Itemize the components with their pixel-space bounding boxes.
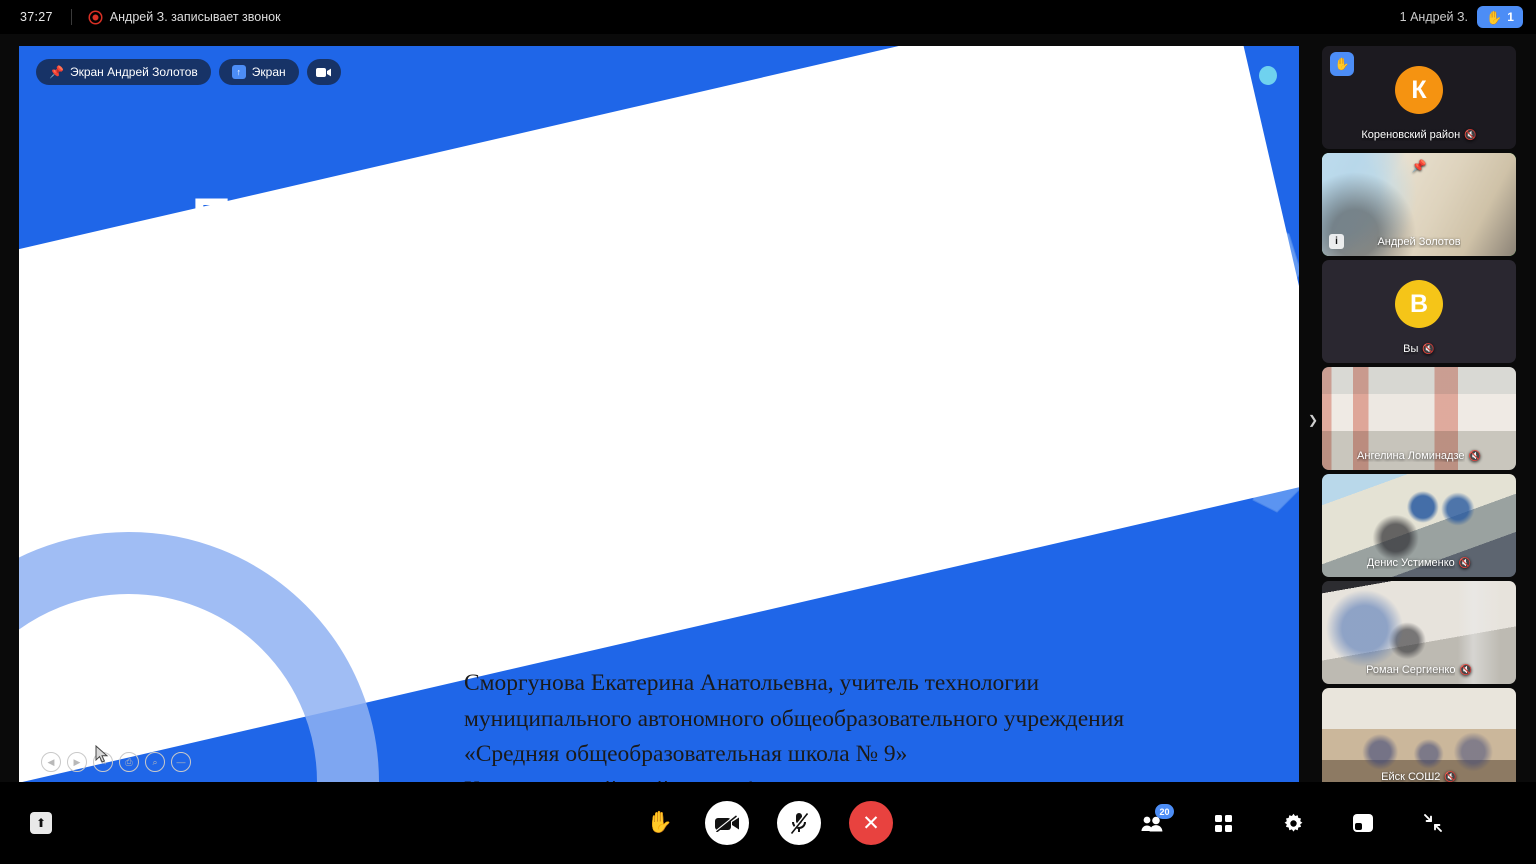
screen-label: Экран xyxy=(252,65,286,79)
participant-name: Денис Устименко xyxy=(1367,557,1455,569)
mic-off-icon: 🔇 xyxy=(1459,558,1471,569)
presentation-controls[interactable]: ◀ ▶ ✎ ⎙ ⌕ — xyxy=(41,752,191,772)
prev-slide-button[interactable]: ◀ xyxy=(41,752,61,772)
video-detail xyxy=(1322,688,1516,782)
participant-name: Роман Сергиенко xyxy=(1366,664,1455,676)
share-screen-icon: ⬆ xyxy=(30,812,52,834)
subtitle-line: муниципального автономного общеобразоват… xyxy=(464,702,1299,738)
print-button[interactable]: ⎙ xyxy=(119,752,139,772)
collapse-arrows-icon xyxy=(1423,813,1443,833)
grid-view-button[interactable] xyxy=(1210,810,1236,836)
end-call-icon: ✕ xyxy=(862,811,880,836)
sidebar-collapse-handle[interactable]: ❯ xyxy=(1306,405,1320,435)
camera-icon xyxy=(316,67,331,78)
subtitle-line: Краснодарский край, город Армавир xyxy=(464,773,1299,782)
raise-hand-icon: ✋ xyxy=(647,811,673,835)
raise-hand-button[interactable]: ✋ xyxy=(643,806,677,840)
participant-name-row: Ангелина Ломинадзе 🔇 xyxy=(1322,450,1516,462)
participant-name: Ейск СОШ2 xyxy=(1381,771,1440,782)
dot xyxy=(1259,66,1277,85)
participants-sidebar[interactable]: ✋ К Кореновский район 🔇 📌 i Андрей Золот… xyxy=(1322,46,1516,782)
toolbar-right: 20 xyxy=(1140,810,1446,836)
collapse-button[interactable] xyxy=(1420,810,1446,836)
participant-name-row: Ейск СОШ2 🔇 xyxy=(1322,771,1516,782)
participant-name-row: Андрей Золотов xyxy=(1322,236,1516,248)
layout-button[interactable] xyxy=(1350,810,1376,836)
screen-badge[interactable]: ↑ Экран xyxy=(219,59,299,85)
participant-tile[interactable]: 📌 i Андрей Золотов xyxy=(1322,153,1516,256)
zoom-button[interactable]: ⌕ xyxy=(145,752,165,772)
participant-tile[interactable]: В Вы 🔇 xyxy=(1322,260,1516,363)
top-bar: 37:27 Андрей З. записывает звонок 1 Андр… xyxy=(0,0,1536,34)
next-slide-button[interactable]: ▶ xyxy=(67,752,87,772)
recording-indicator: Андрей З. записывает звонок xyxy=(90,10,281,24)
avatar: К xyxy=(1395,66,1443,114)
participant-tile[interactable]: Ангелина Ломинадзе 🔇 xyxy=(1322,367,1516,470)
call-controls: ✋ ✕ xyxy=(643,801,893,845)
pin-icon: 📌 xyxy=(49,65,64,79)
record-dot-icon xyxy=(90,12,101,23)
raised-hands-count: 1 xyxy=(1507,10,1514,24)
raised-hands-badge[interactable]: ✋ 1 xyxy=(1477,6,1523,28)
participants-count-badge: 20 xyxy=(1155,804,1174,819)
divider xyxy=(71,9,72,25)
participant-name: Вы xyxy=(1403,343,1418,355)
camera-off-icon xyxy=(715,815,739,832)
chevron-right-icon: ❯ xyxy=(1308,413,1318,427)
share-screen-button[interactable]: ⬆ xyxy=(30,812,52,834)
top-bar-right: 1 Андрей З. ✋ 1 xyxy=(1400,6,1523,28)
mic-off-icon xyxy=(790,812,808,834)
shared-screen-stage[interactable]: Практика трудового воспитания и социальн… xyxy=(19,46,1299,782)
participant-name-row: Роман Сергиенко 🔇 xyxy=(1322,664,1516,676)
avatar: В xyxy=(1395,280,1443,328)
mouse-cursor-icon xyxy=(95,745,109,768)
subtitle-line: «Средняя общеобразовательная школа № 9» xyxy=(464,737,1299,773)
raised-hand-icon: ✋ xyxy=(1330,52,1354,76)
layout-icon xyxy=(1352,813,1374,833)
raised-hand-name: 1 Андрей З. xyxy=(1400,10,1468,24)
bottom-toolbar: ⬆ ✋ xyxy=(0,782,1536,864)
pin-icon: 📌 xyxy=(1412,159,1427,173)
participant-tile[interactable]: Роман Сергиенко 🔇 xyxy=(1322,581,1516,684)
camera-chip[interactable] xyxy=(307,59,341,85)
mic-off-icon: 🔇 xyxy=(1469,451,1481,462)
mic-off-icon: 🔇 xyxy=(1444,772,1456,783)
minimize-button[interactable]: — xyxy=(171,752,191,772)
recording-label: Андрей З. записывает звонок xyxy=(110,10,281,24)
participant-name: Ангелина Ломинадзе xyxy=(1357,450,1464,462)
subtitle-line: Сморгунова Екатерина Анатольевна, учител… xyxy=(464,666,1299,702)
presentation-slide: Практика трудового воспитания и социальн… xyxy=(19,46,1299,782)
participant-name: Андрей Золотов xyxy=(1377,236,1460,248)
participant-tile[interactable]: Денис Устименко 🔇 xyxy=(1322,474,1516,577)
participant-tile[interactable]: ✋ К Кореновский район 🔇 xyxy=(1322,46,1516,149)
mic-off-icon: 🔇 xyxy=(1464,130,1476,141)
mic-off-icon: 🔇 xyxy=(1422,344,1434,355)
mic-off-icon: 🔇 xyxy=(1459,665,1471,676)
participants-button[interactable]: 20 xyxy=(1140,810,1166,836)
participant-name-row: Вы 🔇 xyxy=(1322,343,1516,355)
mic-toggle-button[interactable] xyxy=(777,801,821,845)
participant-tile[interactable]: Ейск СОШ2 🔇 xyxy=(1322,688,1516,782)
end-call-button[interactable]: ✕ xyxy=(849,801,893,845)
settings-button[interactable] xyxy=(1280,810,1306,836)
share-badges: 📌 Экран Андрей Золотов ↑ Экран xyxy=(36,59,341,85)
participant-name-row: Кореновский район 🔇 xyxy=(1322,129,1516,141)
grid-view-icon xyxy=(1215,815,1232,832)
meeting-timer: 37:27 xyxy=(20,10,53,24)
participant-name: Кореновский район xyxy=(1361,129,1460,141)
gear-icon xyxy=(1283,813,1304,834)
meeting-window: 37:27 Андрей З. записывает звонок 1 Андр… xyxy=(0,0,1536,864)
screen-share-icon: ↑ xyxy=(232,65,246,79)
presenter-badge[interactable]: 📌 Экран Андрей Золотов xyxy=(36,59,211,85)
raised-hand-icon: ✋ xyxy=(1486,11,1502,24)
camera-toggle-button[interactable] xyxy=(705,801,749,845)
presenter-label: Экран Андрей Золотов xyxy=(70,65,198,79)
participant-name-row: Денис Устименко 🔇 xyxy=(1322,557,1516,569)
slide-subtitle: Сморгунова Екатерина Анатольевна, учител… xyxy=(464,666,1299,782)
